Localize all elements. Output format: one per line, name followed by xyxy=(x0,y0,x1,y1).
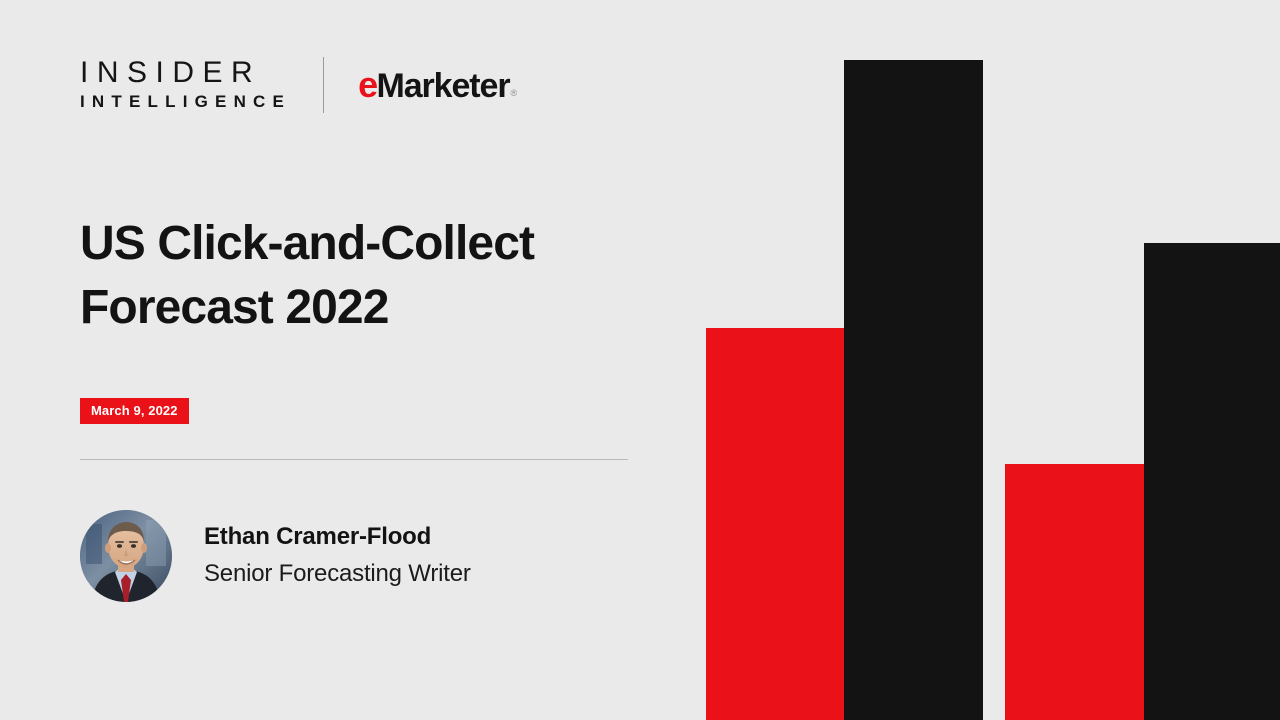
chart-bar-1 xyxy=(706,328,844,720)
intelligence-wordmark: INTELLIGENCE xyxy=(80,91,291,112)
insider-intelligence-logo: INSIDER INTELLIGENCE xyxy=(80,58,291,112)
chart-bar-3 xyxy=(1005,464,1144,720)
publish-date-badge: March 9, 2022 xyxy=(80,398,189,424)
insider-wordmark: INSIDER xyxy=(80,58,291,89)
author-block: Ethan Cramer-Flood Senior Forecasting Wr… xyxy=(80,510,471,602)
page-title: US Click-and-Collect Forecast 2022 xyxy=(80,212,640,339)
emarketer-logo: eMarketer® xyxy=(358,64,516,106)
author-role: Senior Forecasting Writer xyxy=(204,557,471,591)
logo-divider xyxy=(323,57,324,113)
emarketer-wordmark: Marketer xyxy=(377,67,510,106)
emarketer-e-glyph: e xyxy=(358,64,376,106)
brand-logo-lockup: INSIDER INTELLIGENCE eMarketer® xyxy=(80,52,516,118)
chart-bar-2 xyxy=(844,60,983,720)
registered-trademark-icon: ® xyxy=(510,88,516,98)
author-details: Ethan Cramer-Flood Senior Forecasting Wr… xyxy=(204,521,471,591)
chart-bar-4 xyxy=(1144,243,1280,720)
section-divider xyxy=(80,459,628,460)
slide-content: INSIDER INTELLIGENCE eMarketer® US Click… xyxy=(80,0,640,720)
author-name: Ethan Cramer-Flood xyxy=(204,521,471,553)
avatar xyxy=(80,510,172,602)
avatar-photo xyxy=(80,510,172,602)
